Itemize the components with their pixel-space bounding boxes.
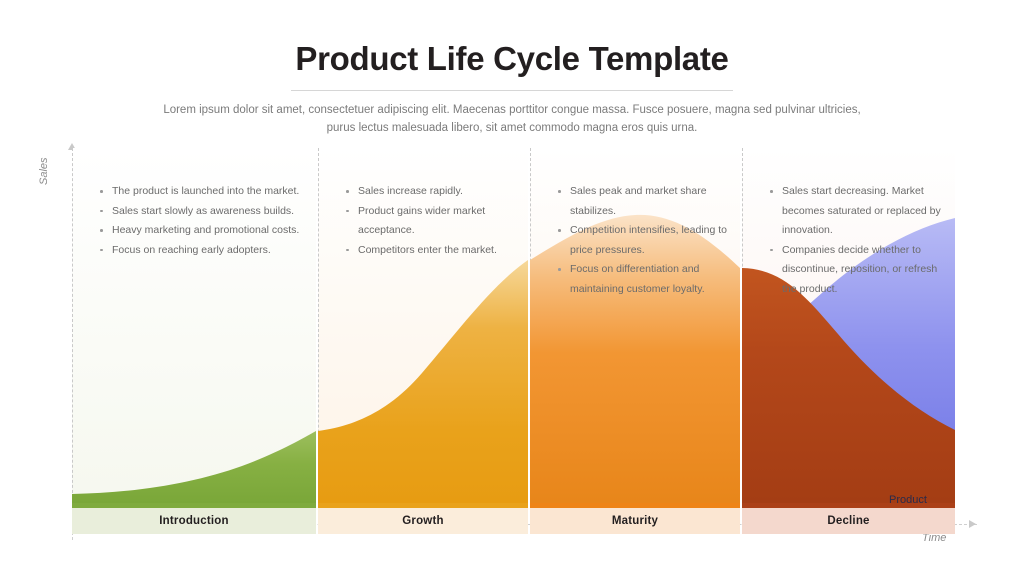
product-life-cycle-chart: Sales Time The product is launched into … <box>0 140 1024 540</box>
list-item: Focus on reaching early adopters. <box>98 241 308 261</box>
x-axis-arrow-icon <box>969 520 976 528</box>
stage-column-maturity[interactable]: Sales peak and market share stabilizes. … <box>530 148 740 503</box>
stage-bullets-growth: Sales increase rapidly. Product gains wi… <box>344 182 520 260</box>
slide-header: Product Life Cycle Template Lorem ipsum … <box>0 0 1024 137</box>
stage-bullets-decline: Sales start decreasing. Market becomes s… <box>768 182 947 299</box>
stage-column-introduction[interactable]: The product is launched into the market.… <box>72 148 316 503</box>
stage-column-growth[interactable]: Sales increase rapidly. Product gains wi… <box>318 148 528 503</box>
list-item: Sales peak and market share stabilizes. <box>556 182 732 221</box>
stage-label-text: Maturity <box>612 515 658 527</box>
stage-label-maturity[interactable]: Maturity <box>530 503 740 534</box>
stage-label-introduction[interactable]: Introduction <box>72 503 316 534</box>
list-item: Companies decide whether to discontinue,… <box>768 241 947 300</box>
stage-label-text: Introduction <box>159 515 228 527</box>
stage-label-text: Growth <box>402 515 443 527</box>
list-item: The product is launched into the market. <box>98 182 308 202</box>
list-item: Focus on differentiation and maintaining… <box>556 260 732 299</box>
stage-label-text: Decline <box>827 515 869 527</box>
stage-bullets-maturity: Sales peak and market share stabilizes. … <box>556 182 732 299</box>
stage-label-growth[interactable]: Growth <box>318 503 528 534</box>
y-axis-label: Sales <box>38 157 50 185</box>
page-title: Product Life Cycle Template <box>0 38 1024 80</box>
stage-bullets-introduction: The product is launched into the market.… <box>98 182 308 260</box>
title-divider <box>291 90 733 91</box>
list-item: Competitors enter the market. <box>344 241 520 261</box>
list-item: Product gains wider market acceptance. <box>344 202 520 241</box>
list-item: Sales start slowly as awareness builds. <box>98 202 308 222</box>
list-item: Competition intensifies, leading to pric… <box>556 221 732 260</box>
list-item: Sales start decreasing. Market becomes s… <box>768 182 947 241</box>
stage-label-decline[interactable]: Decline <box>742 503 955 534</box>
list-item: Heavy marketing and promotional costs. <box>98 221 308 241</box>
stage-column-decline[interactable]: Sales start decreasing. Market becomes s… <box>742 148 955 503</box>
list-item: Sales increase rapidly. <box>344 182 520 202</box>
subtitle-text: Lorem ipsum dolor sit amet, consectetuer… <box>162 101 862 137</box>
